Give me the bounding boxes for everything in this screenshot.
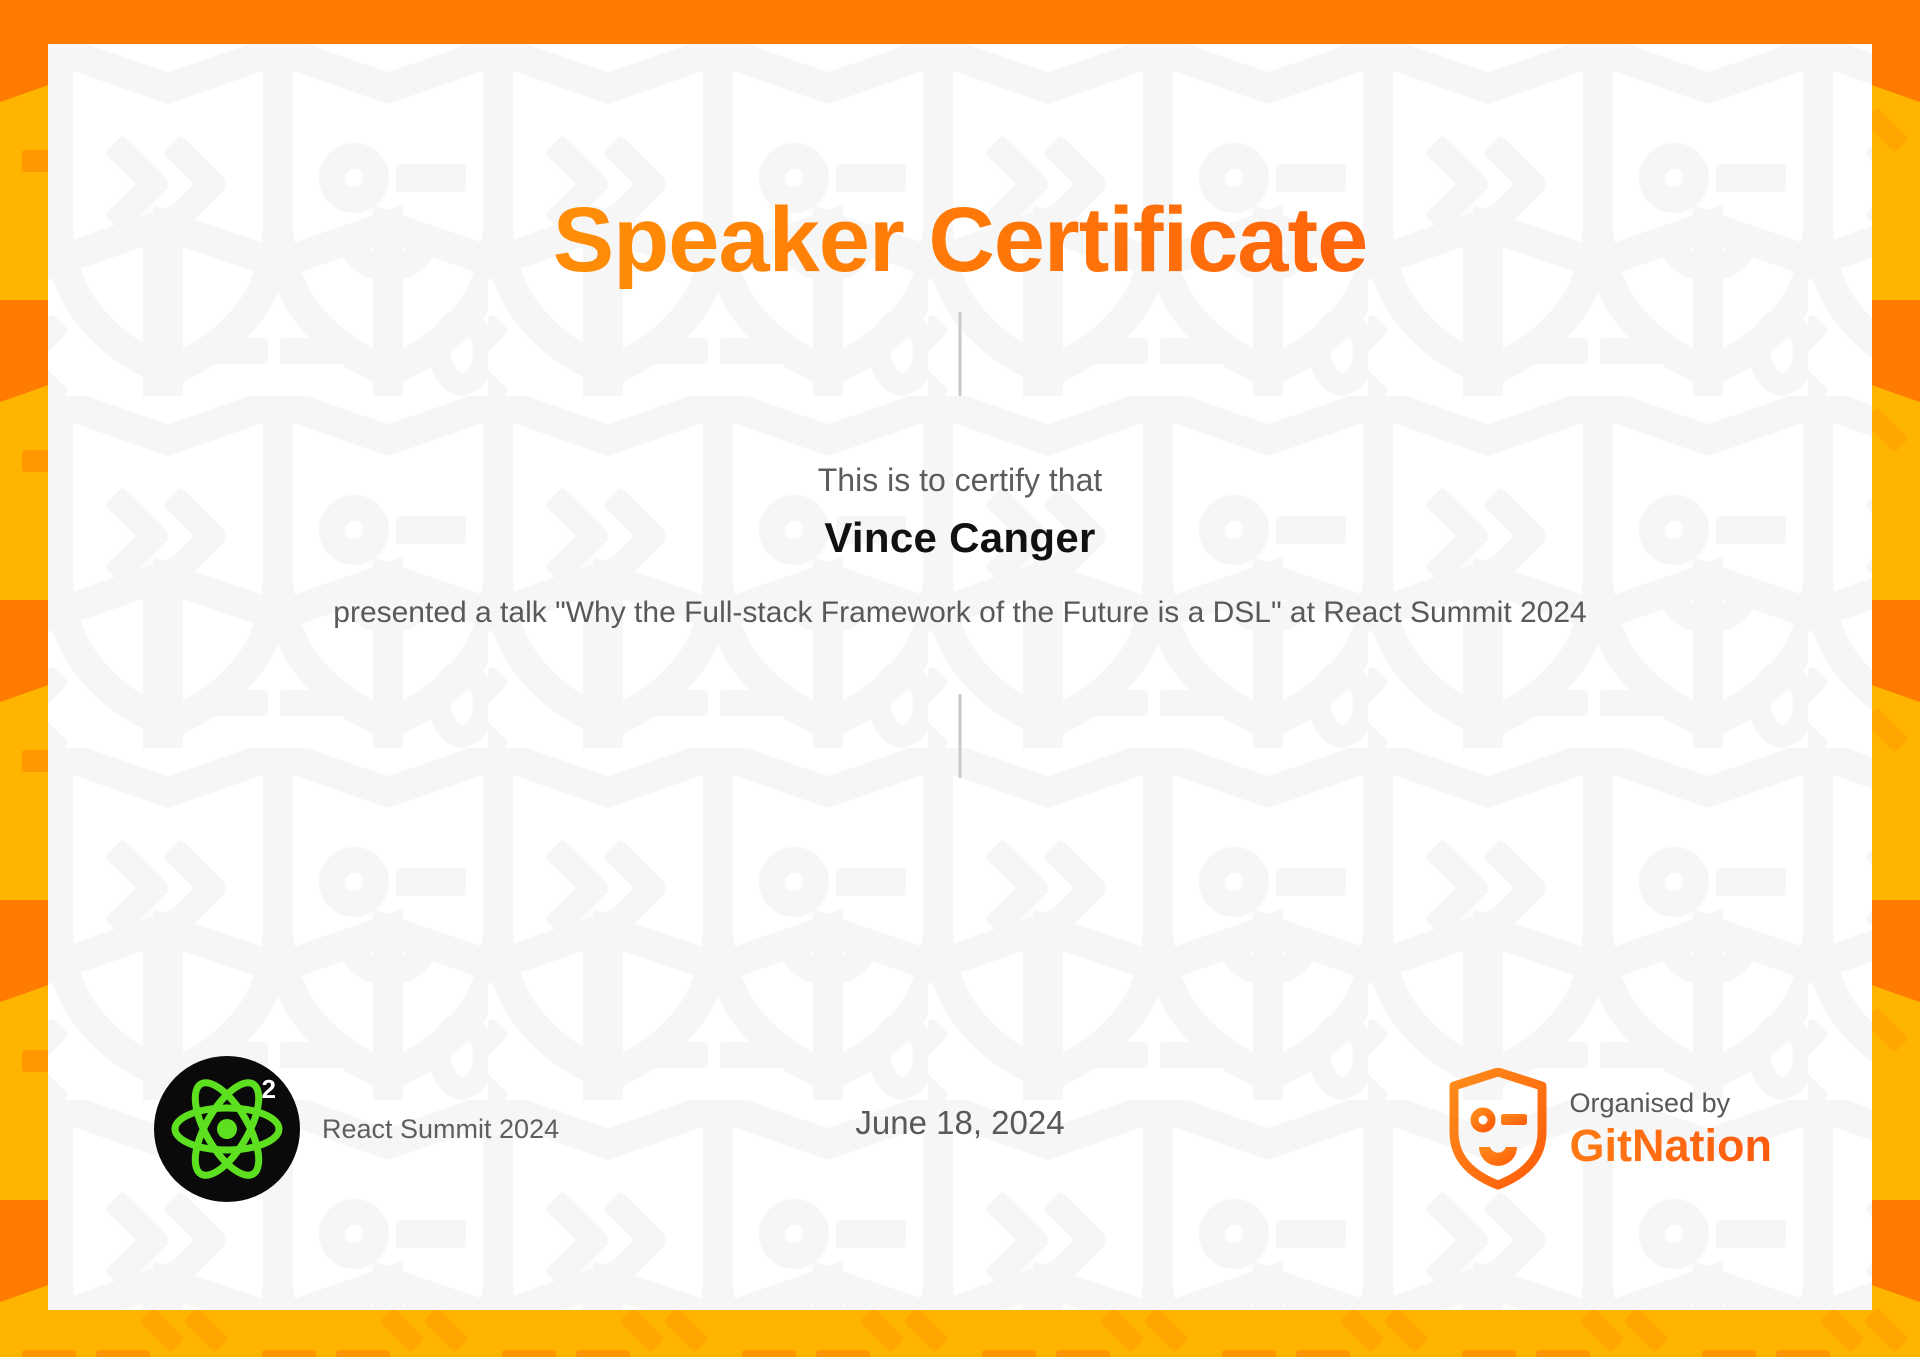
talk-description: presented a talk "Why the Full-stack Fra… [230,592,1690,633]
gitnation-shield-face-icon [1448,1068,1548,1190]
recipient-name: Vince Canger [48,514,1872,562]
organiser-block: Organised by GitNation [1448,1064,1772,1194]
page-title: Speaker Certificate [48,192,1872,289]
organised-by-label: Organised by [1570,1087,1772,1121]
certificate-card: Speaker Certificate This is to certify t… [48,44,1872,1310]
organiser-name: GitNation [1570,1121,1772,1171]
certificate-root: Speaker Certificate This is to certify t… [0,0,1920,1357]
certify-line: This is to certify that [48,462,1872,499]
certificate-footer: 2 React Summit 2024 June 18, 2024 [48,1056,1872,1202]
divider-top [959,312,962,396]
event-logo-superscript: 2 [262,1076,276,1102]
organiser-text: Organised by GitNation [1570,1087,1772,1171]
divider-bottom [959,694,962,778]
